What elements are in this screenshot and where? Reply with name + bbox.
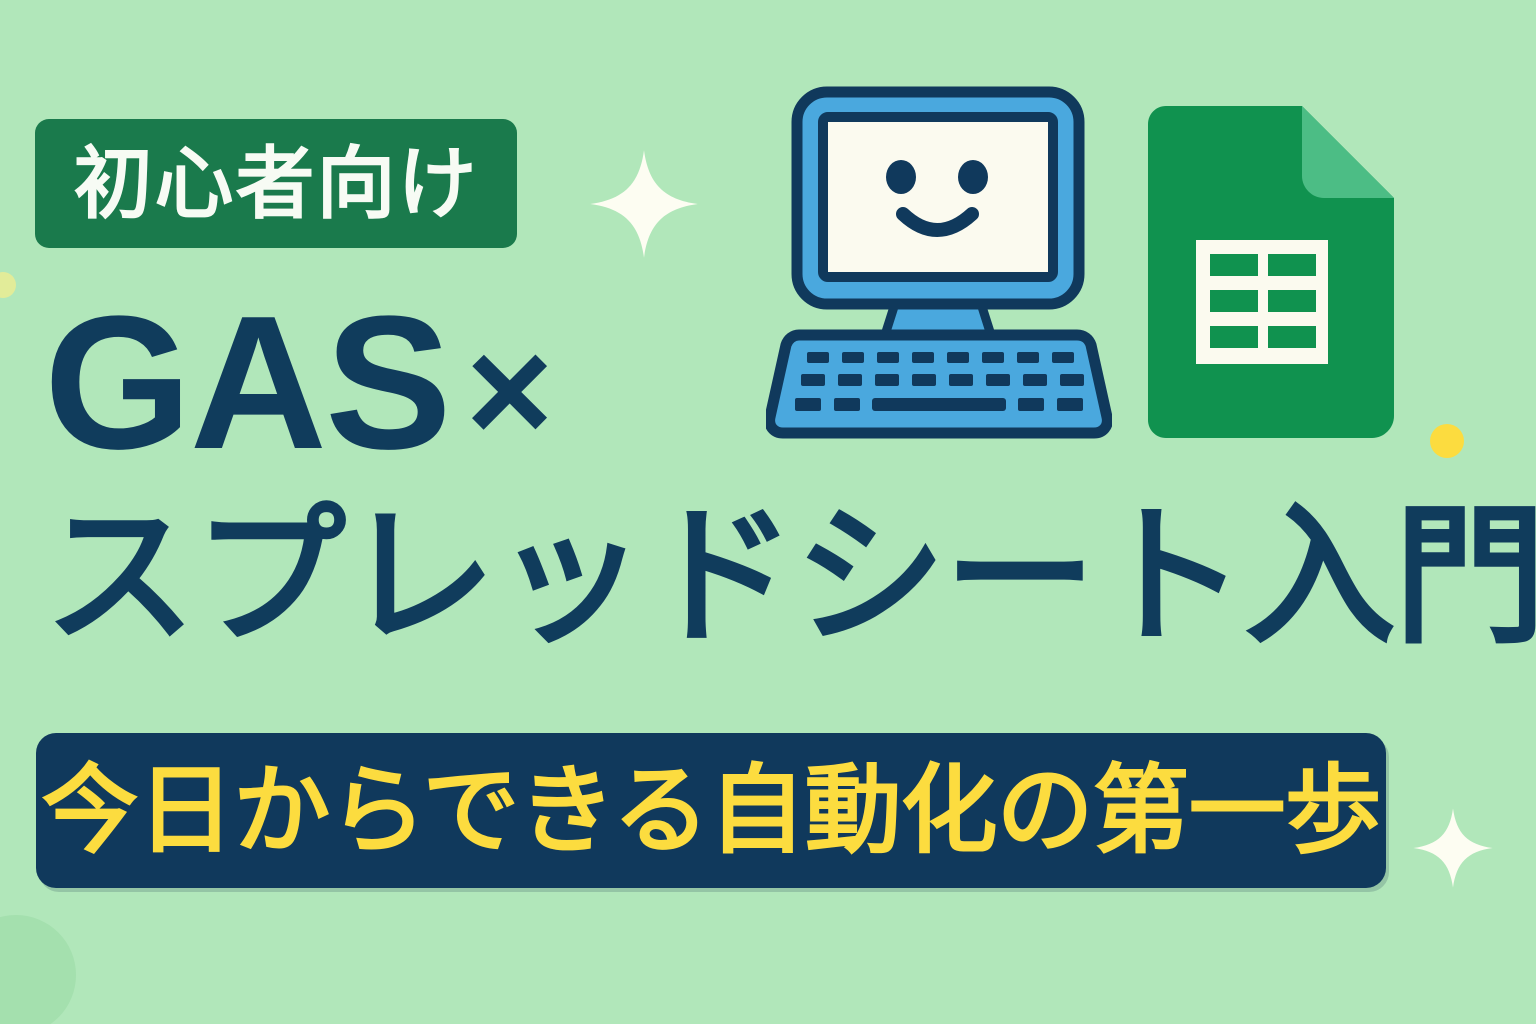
audience-badge: 初心者向け bbox=[35, 119, 517, 248]
bg-circle-bottom-left bbox=[0, 915, 76, 1024]
yellow-dot-left-edge-icon bbox=[0, 272, 16, 298]
thumbnail-canvas: 初心者向け GAS× スプレッドシート入門 今日からできる自動化の第一歩 bbox=[0, 0, 1536, 1024]
smiling-computer-icon bbox=[766, 86, 1112, 440]
google-sheets-icon bbox=[1148, 106, 1394, 438]
subtitle-banner-label: 今日からできる自動化の第一歩 bbox=[41, 762, 1380, 859]
sparkle-bottom-right-icon bbox=[1410, 805, 1496, 891]
sparkle-top-icon bbox=[588, 148, 700, 260]
headline-main-text: GAS bbox=[44, 277, 450, 489]
audience-badge-label: 初心者向け bbox=[74, 144, 479, 223]
headline-line-2: スプレッドシート入門 bbox=[44, 500, 1414, 655]
yellow-dot-right-icon bbox=[1430, 424, 1464, 458]
multiply-symbol-icon: × bbox=[466, 306, 554, 474]
subtitle-banner: 今日からできる自動化の第一歩 bbox=[36, 733, 1386, 888]
